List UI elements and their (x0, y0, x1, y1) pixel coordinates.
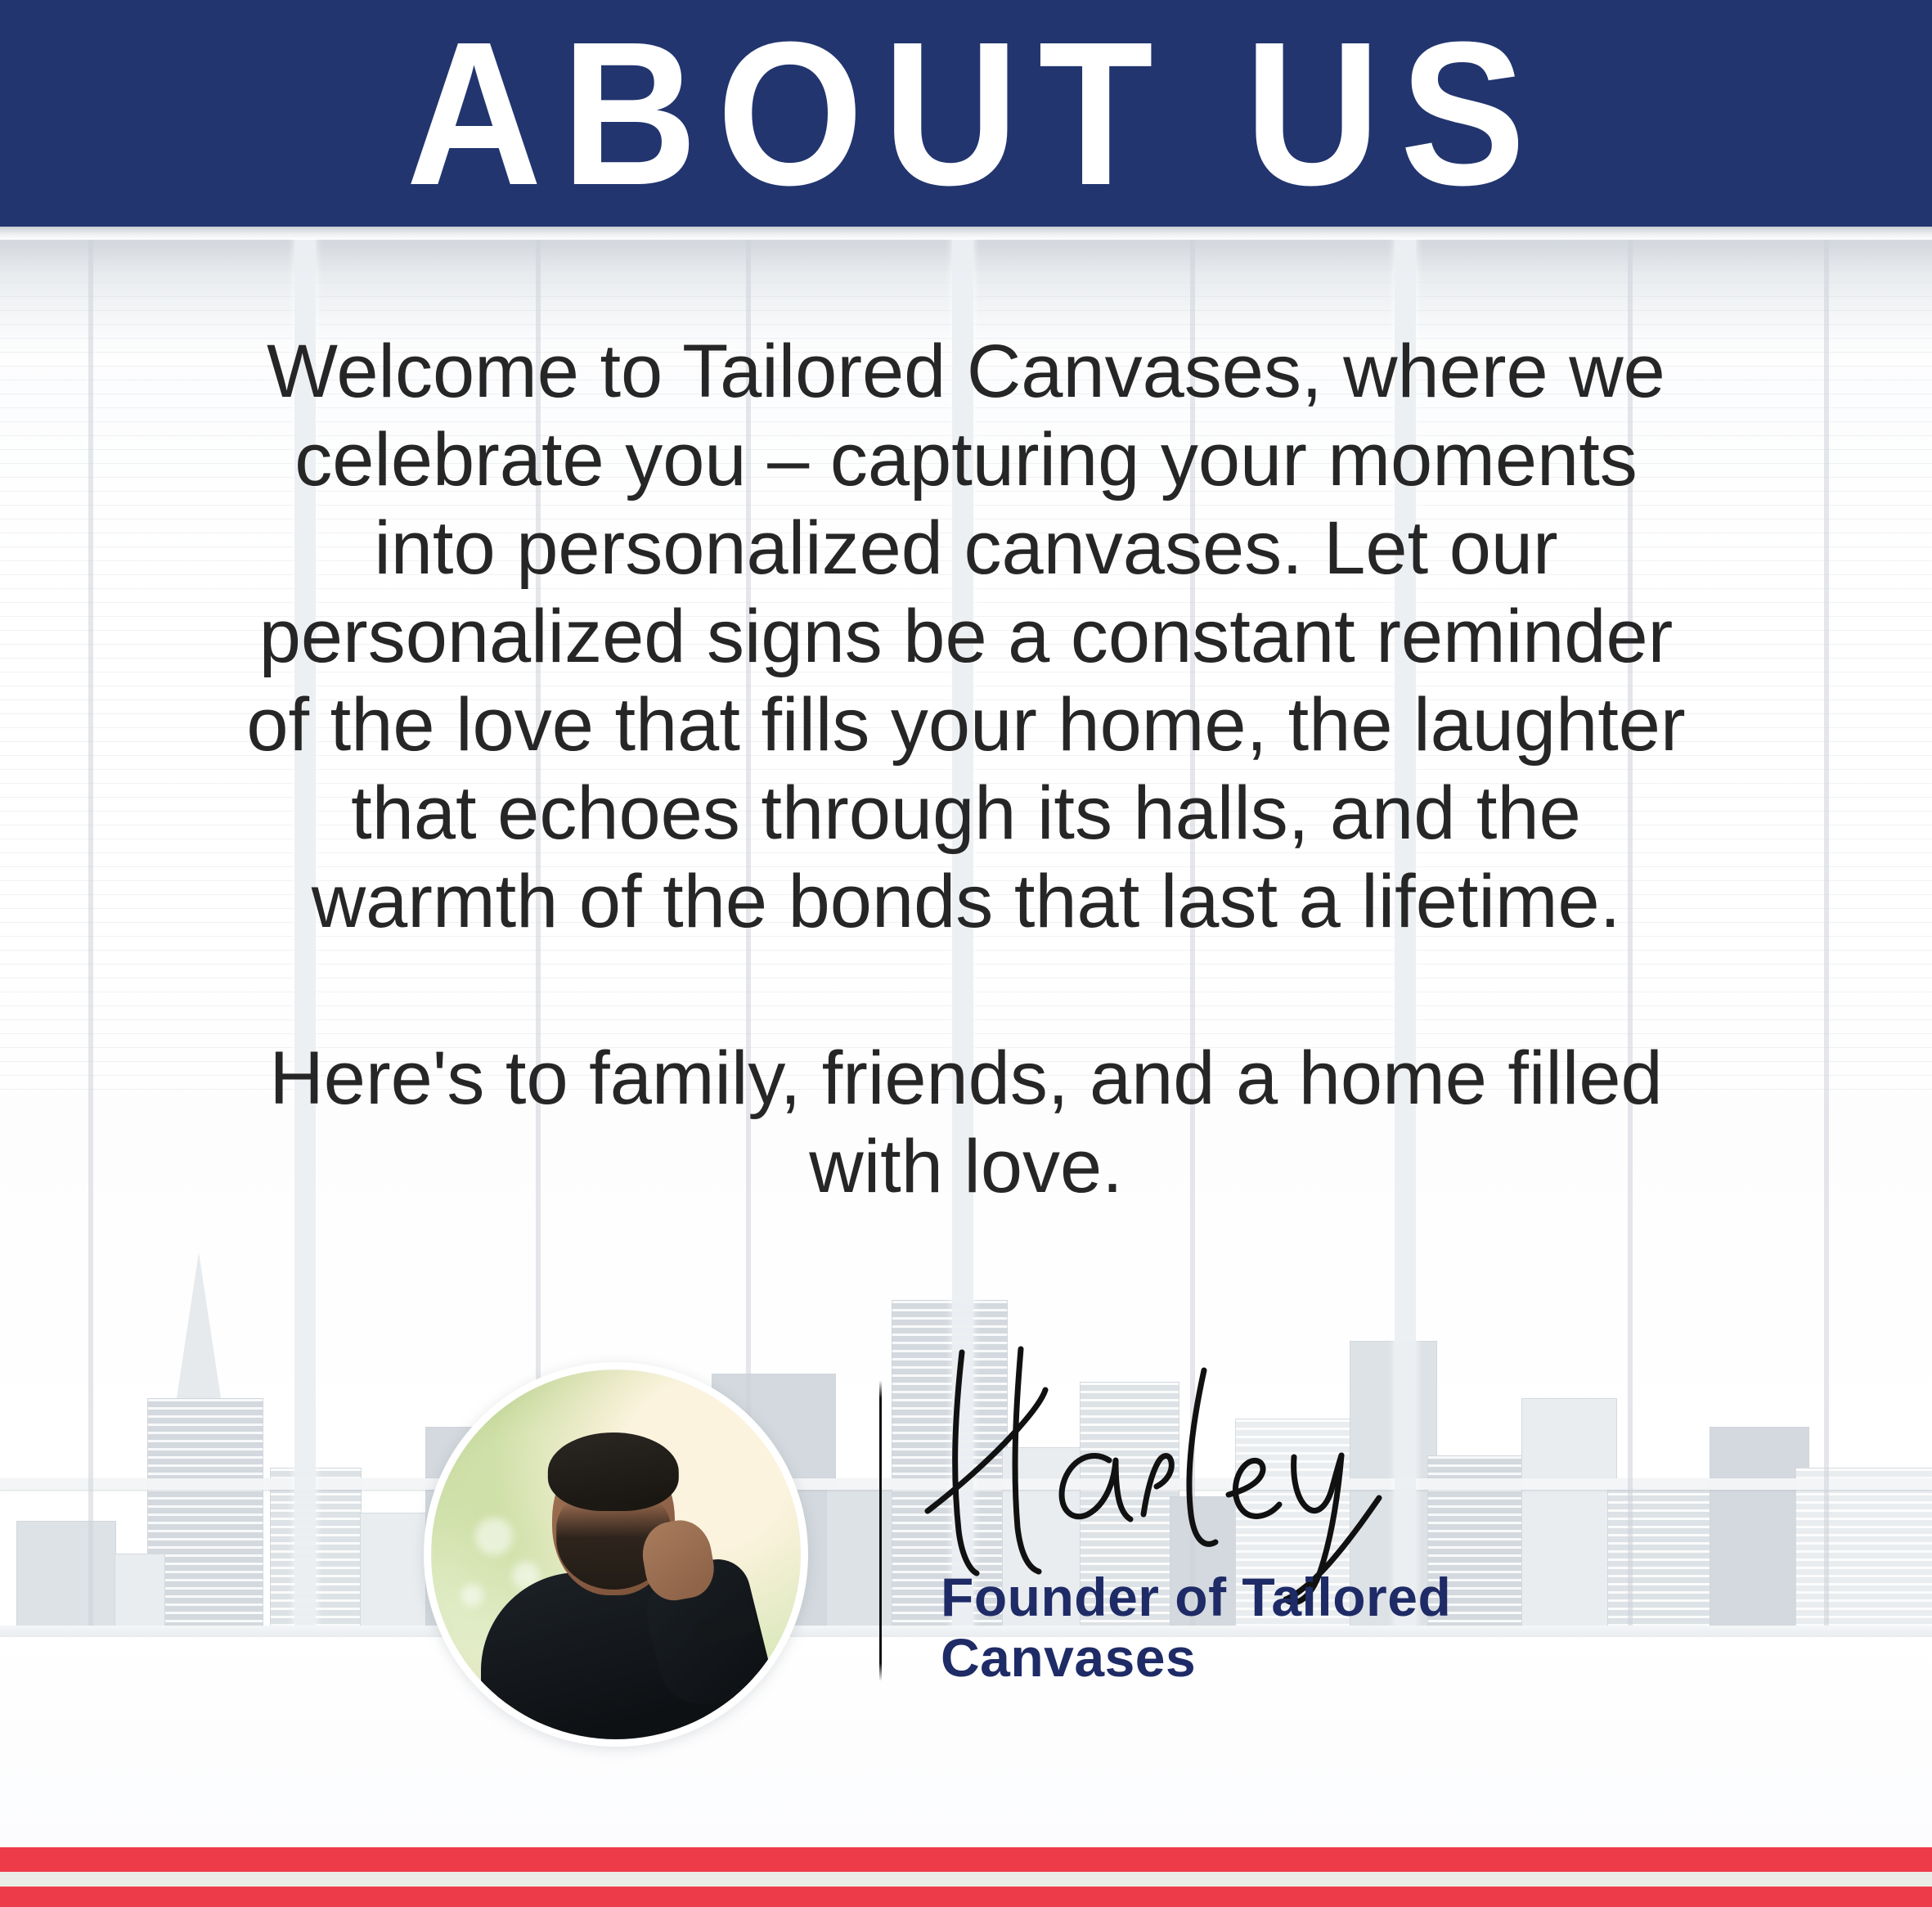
signature-block: Founder of Tailored Canvases (0, 1362, 1932, 1747)
founder-avatar (424, 1362, 808, 1747)
footer-stripe-bottom (0, 1887, 1932, 1907)
about-paragraph-2: Here's to family, friends, and a home fi… (246, 1034, 1686, 1211)
header-bottom-rule (0, 227, 1932, 240)
footer-stripe-gap (0, 1872, 1932, 1887)
paragraph-spacer (246, 946, 1686, 1034)
bokeh-dot (475, 1518, 513, 1555)
signature-divider (879, 1380, 882, 1681)
about-paragraph-1: Welcome to Tailored Canvases, where we c… (246, 327, 1686, 946)
header-bar: ABOUT US (0, 0, 1932, 227)
about-us-poster: ABOUT US Welcome to Tailored Canvases, w… (0, 0, 1932, 1907)
founder-role: Founder of Tailored Canvases (941, 1567, 1546, 1688)
founder-role-line-2: Canvases (941, 1627, 1546, 1688)
about-us-copy: Welcome to Tailored Canvases, where we c… (246, 327, 1686, 1211)
founder-role-line-1: Founder of Tailored (941, 1567, 1546, 1627)
footer-stripe-top (0, 1847, 1932, 1872)
page-title: ABOUT US (387, 21, 1545, 205)
